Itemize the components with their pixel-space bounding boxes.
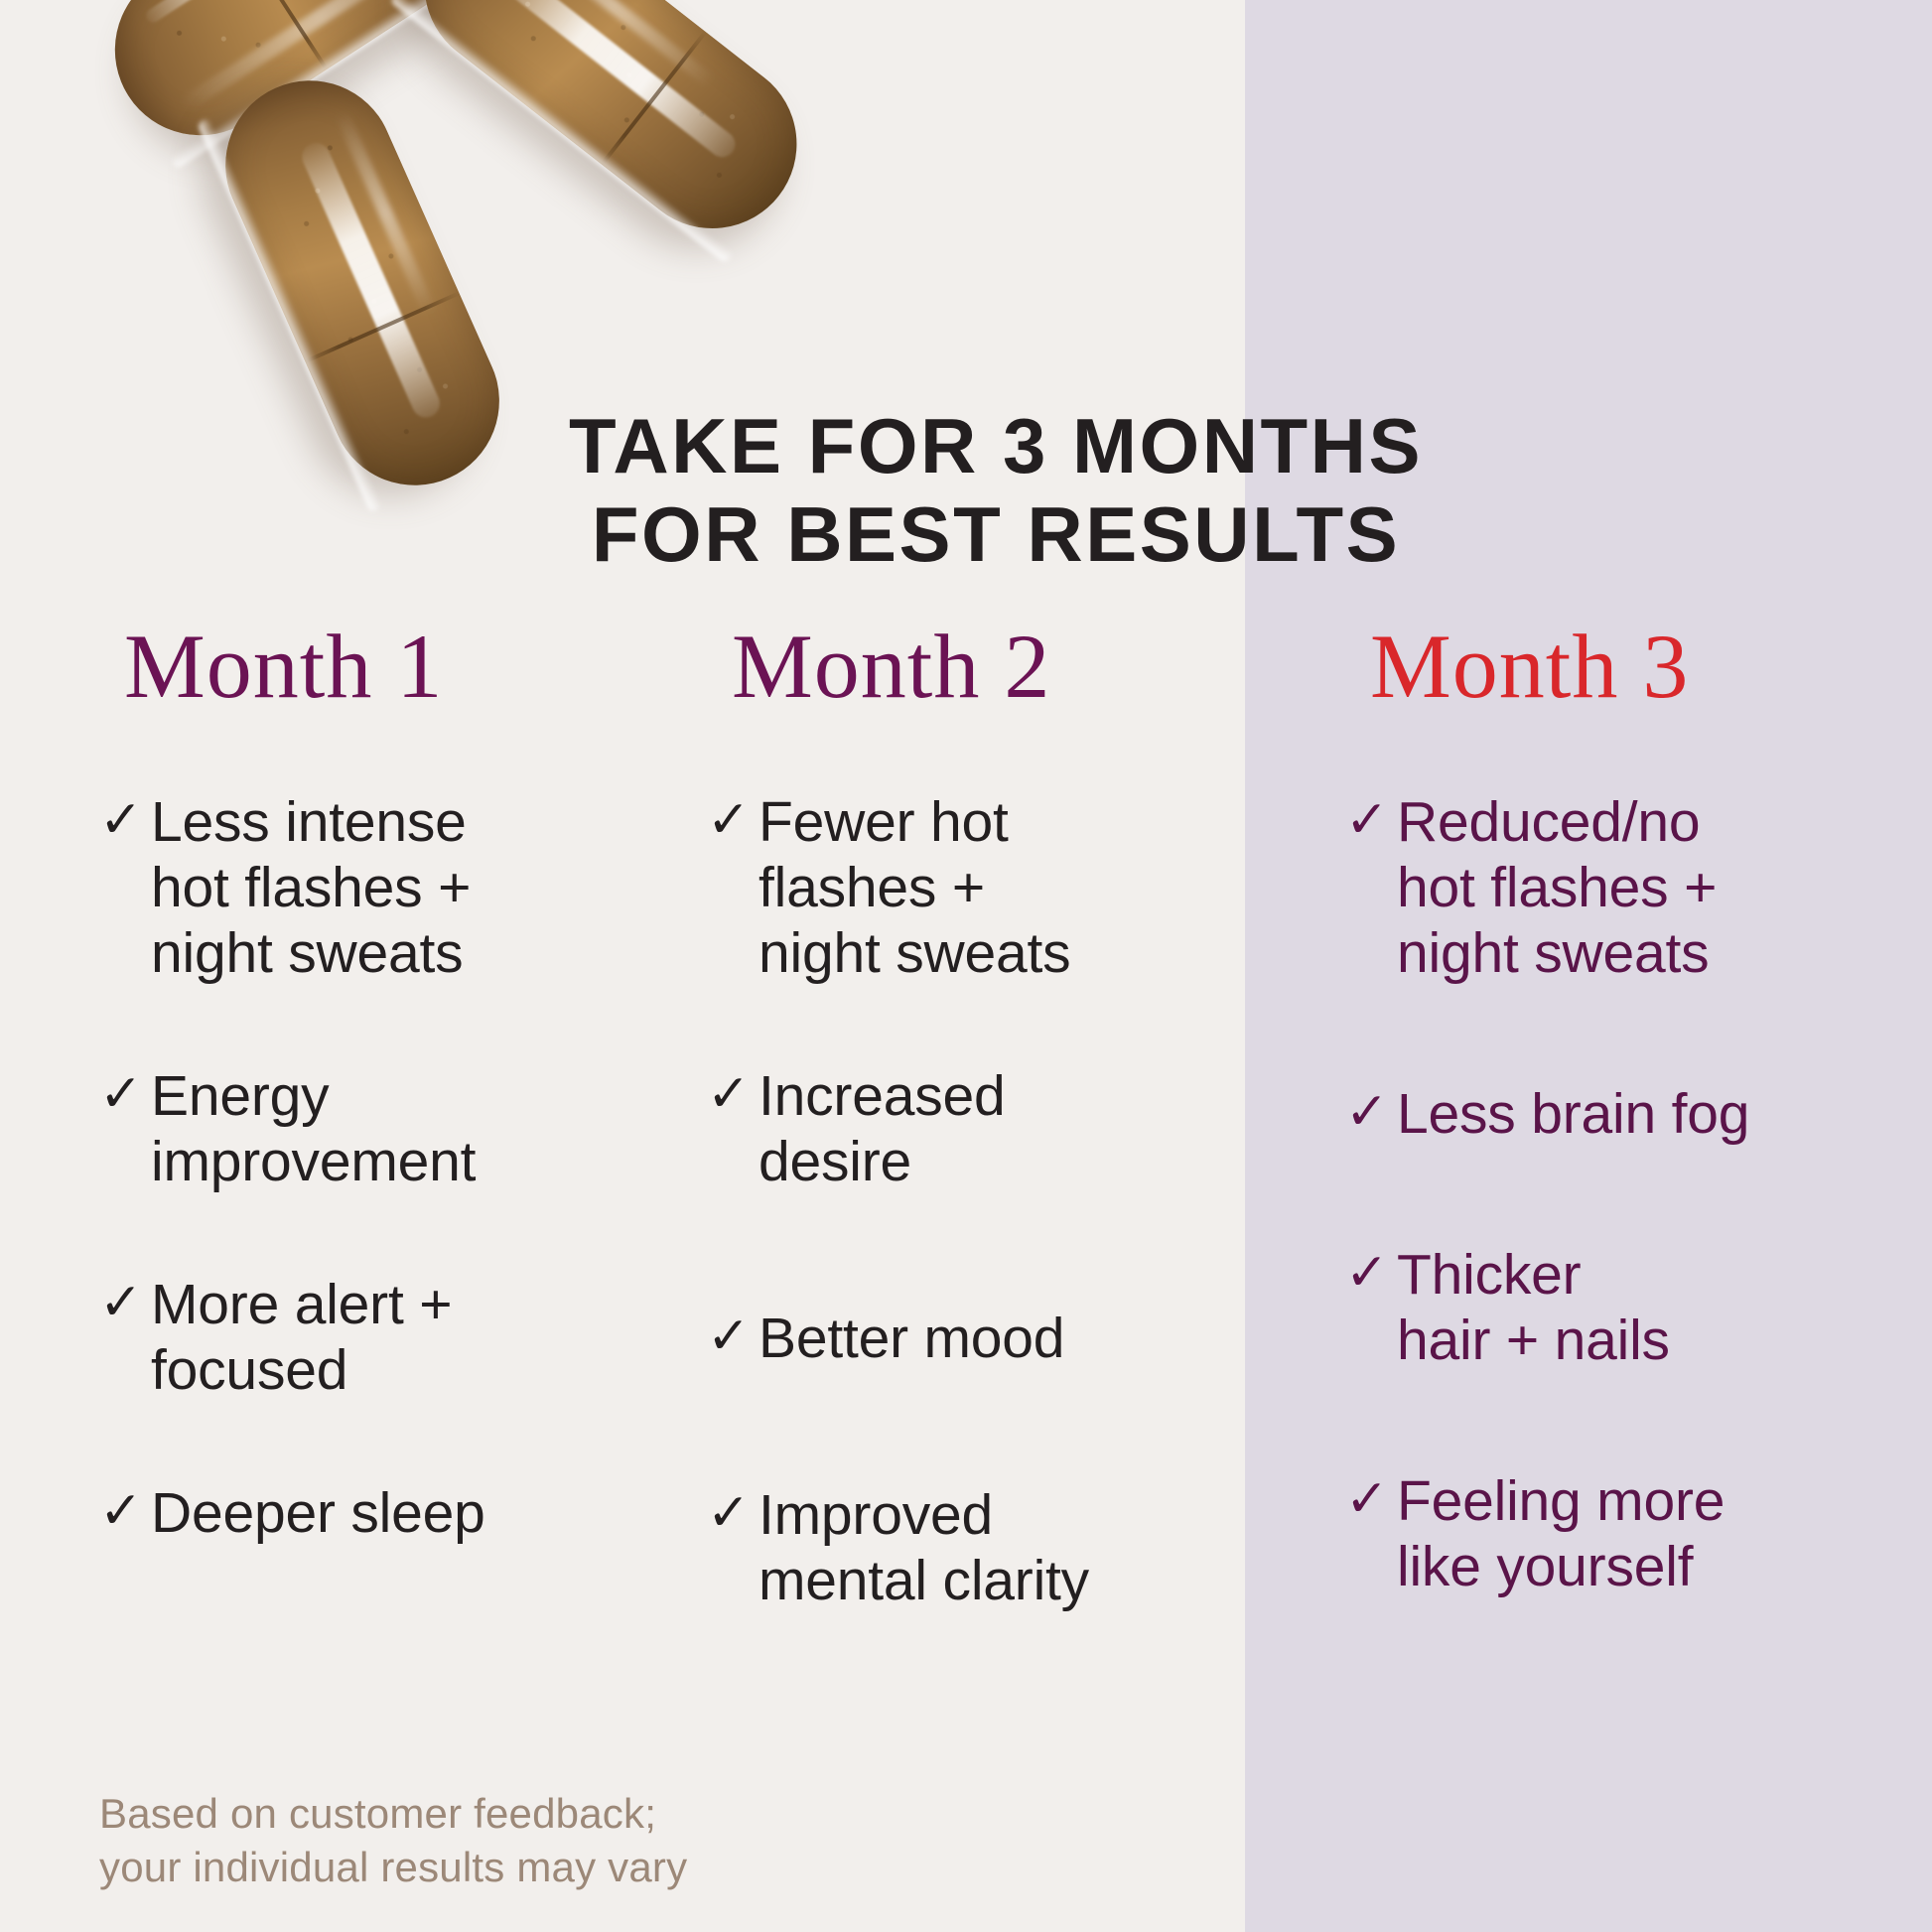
check-icon: ✓ (99, 1063, 151, 1125)
benefit-text: Reduced/no hot flashes + night sweats (1397, 789, 1717, 986)
benefit-text: More alert + focused (151, 1272, 452, 1403)
benefit-item: ✓ Feeling more like yourself (1345, 1468, 1881, 1599)
month-1-benefit-list: ✓ Less intense hot flashes + night sweat… (99, 789, 616, 1546)
check-icon: ✓ (707, 1306, 759, 1367)
month-3-title: Month 3 (1370, 621, 1881, 712)
month-2-benefit-list: ✓ Fewer hot flashes + night sweats ✓ Inc… (707, 789, 1223, 1613)
check-icon: ✓ (707, 789, 759, 851)
check-icon: ✓ (99, 1272, 151, 1333)
month-column-3: Month 3 ✓ Reduced/no hot flashes + night… (1345, 621, 1881, 1671)
benefit-item: ✓ Less intense hot flashes + night sweat… (99, 789, 616, 986)
benefit-text: Thicker hair + nails (1397, 1242, 1670, 1373)
benefit-text: Better mood (759, 1306, 1064, 1371)
check-icon: ✓ (707, 1482, 759, 1544)
check-icon: ✓ (1345, 789, 1397, 851)
month-column-1: Month 1 ✓ Less intense hot flashes + nig… (99, 621, 616, 1617)
month-1-title: Month 1 (124, 621, 616, 712)
benefit-text: Fewer hot flashes + night sweats (759, 789, 1070, 986)
month-column-2: Month 2 ✓ Fewer hot flashes + night swea… (707, 621, 1223, 1685)
month-3-benefit-list: ✓ Reduced/no hot flashes + night sweats … (1345, 789, 1881, 1599)
benefit-item: ✓ Deeper sleep (99, 1480, 616, 1546)
benefit-item: ✓ Energy improvement (99, 1063, 616, 1194)
check-icon: ✓ (99, 789, 151, 851)
benefit-text: Deeper sleep (151, 1480, 485, 1546)
benefit-text: Energy improvement (151, 1063, 476, 1194)
check-icon: ✓ (1345, 1242, 1397, 1304)
promo-graphic: TAKE FOR 3 MONTHS FOR BEST RESULTS Month… (0, 0, 1932, 1932)
benefit-text: Increased desire (759, 1063, 1006, 1194)
check-icon: ✓ (99, 1480, 151, 1542)
benefit-item: ✓ Fewer hot flashes + night sweats (707, 789, 1223, 986)
check-icon: ✓ (707, 1063, 759, 1125)
benefit-text: Less brain fog (1397, 1081, 1749, 1147)
check-icon: ✓ (1345, 1081, 1397, 1143)
headline: TAKE FOR 3 MONTHS FOR BEST RESULTS (0, 402, 1932, 579)
month-columns: Month 1 ✓ Less intense hot flashes + nig… (0, 621, 1932, 1732)
headline-line-1: TAKE FOR 3 MONTHS (569, 402, 1423, 489)
benefit-text: Feeling more like yourself (1397, 1468, 1725, 1599)
benefit-item: ✓ Improved mental clarity (707, 1482, 1223, 1613)
benefit-item: ✓ Reduced/no hot flashes + night sweats (1345, 789, 1881, 986)
benefit-item: ✓ Increased desire (707, 1063, 1223, 1194)
benefit-item: ✓ More alert + focused (99, 1272, 616, 1403)
headline-line-2: FOR BEST RESULTS (60, 490, 1932, 579)
benefit-text: Less intense hot flashes + night sweats (151, 789, 471, 986)
benefit-item: ✓ Less brain fog (1345, 1081, 1881, 1147)
check-icon: ✓ (1345, 1468, 1397, 1530)
benefit-item: ✓ Better mood (707, 1306, 1223, 1371)
benefit-text: Improved mental clarity (759, 1482, 1089, 1613)
benefit-item: ✓ Thicker hair + nails (1345, 1242, 1881, 1373)
month-2-title: Month 2 (732, 621, 1223, 712)
disclaimer-text: Based on customer feedback; your individ… (99, 1787, 687, 1894)
